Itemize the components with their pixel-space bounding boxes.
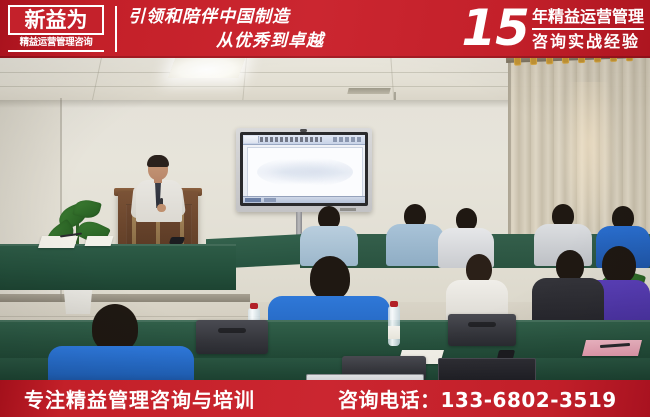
training-scene-photo <box>0 58 650 380</box>
header-slogan: 引领和陪伴中国制造 从优秀到卓越 <box>128 4 398 56</box>
experience-text: 年精益运营管理 咨询实战经验 <box>532 6 644 52</box>
pink-notebook <box>582 340 642 356</box>
header-divider <box>115 6 117 52</box>
screen-taskbar-item <box>245 198 261 202</box>
experience-line-2: 咨询实战经验 <box>532 31 644 52</box>
screen-titlebar <box>243 135 365 145</box>
logo-tagline-text: 精益运营管理咨询 <box>8 36 104 50</box>
smartphone <box>169 237 185 244</box>
attendee-head-foreground <box>92 304 138 352</box>
table-edge <box>0 244 236 246</box>
attendee-head <box>602 246 636 284</box>
attendee-polo-foreground <box>48 346 194 380</box>
slogan-line-2: 从优秀到卓越 <box>216 30 324 52</box>
display-camera <box>300 129 307 132</box>
presenter-glasses <box>150 164 166 169</box>
slogan-line-1: 引领和陪伴中国制造 <box>128 6 290 28</box>
attendee-shirt <box>386 224 444 266</box>
notebook <box>38 236 78 248</box>
chair <box>196 320 268 354</box>
screen-document <box>247 147 363 197</box>
screen-titlebar-controls <box>333 137 363 142</box>
paper-sheet <box>85 236 114 246</box>
header-banner: 新益为 精益运营管理咨询 引领和陪伴中国制造 从优秀到卓越 15 年精益运营管理… <box>0 0 650 58</box>
chair <box>448 314 516 346</box>
bottle-label <box>388 326 400 339</box>
company-logo: 新益为 精益运营管理咨询 <box>8 5 104 53</box>
curtain-edge <box>508 58 511 254</box>
screen-titlebar-menu <box>244 136 259 143</box>
logo-brand-text: 新益为 <box>8 5 104 35</box>
screen-titlebar-title <box>260 137 322 142</box>
presenter-hand <box>157 204 166 212</box>
screen-watermark <box>257 157 353 187</box>
ceiling-light <box>168 58 246 78</box>
experience-block: 15 年精益运营管理 咨询实战经验 <box>461 2 644 56</box>
experience-rule <box>532 28 644 30</box>
screen-taskbar <box>243 196 365 203</box>
experience-line-1: 年精益运营管理 <box>532 6 644 27</box>
table-row-middle-left <box>0 244 236 290</box>
footer-slogan: 专注精益管理咨询与培训 <box>24 380 255 417</box>
baseboard <box>0 294 250 302</box>
laptop-keyboard <box>438 358 536 380</box>
bottle-cap <box>250 303 258 309</box>
display-brand-logo <box>340 208 356 211</box>
attendee-head <box>310 256 350 300</box>
footer-contact: 咨询电话：133-6802-3519 <box>338 380 617 417</box>
screen-taskbar-item <box>264 198 276 202</box>
ceiling-fixture <box>347 88 390 94</box>
logo-underline <box>8 50 104 52</box>
presentation-screen <box>243 135 365 203</box>
experience-number: 15 <box>461 3 529 55</box>
promo-banner-image: 新益为 精益运营管理咨询 引领和陪伴中国制造 从优秀到卓越 15 年精益运营管理… <box>0 0 650 417</box>
footer-banner: 专注精益管理咨询与培训 咨询电话：133-6802-3519 <box>0 380 650 417</box>
bottle-cap <box>390 301 398 307</box>
